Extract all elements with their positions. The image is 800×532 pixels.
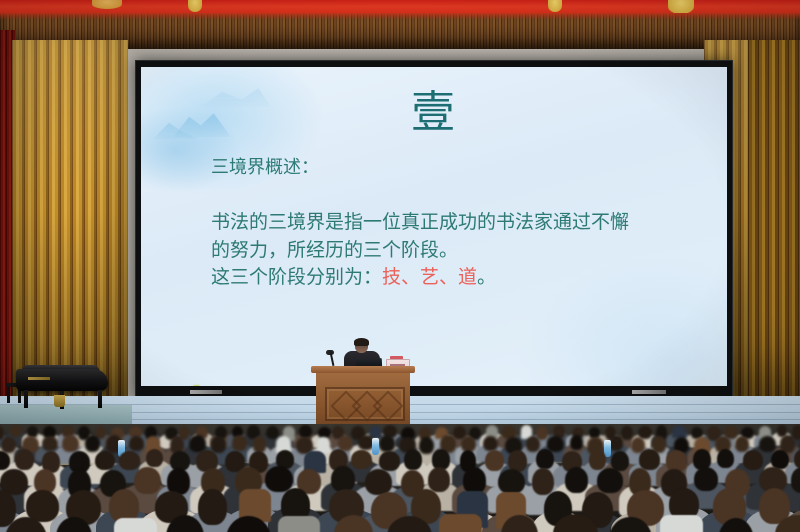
audience-member-head: [570, 435, 583, 450]
audience-member-head: [351, 450, 371, 469]
slide-paragraph: 书法的三境界是指一位真正成功的书法家通过不懈 的努力，所经历的三个阶段。 这三个…: [211, 209, 713, 292]
lecture-hall-photo: 壹 三境界概述： 书法的三境界是指一位真正成功的书法家通过不懈 的努力，所经历的…: [0, 0, 800, 532]
banner-gold-decoration-icon: [548, 0, 562, 12]
audience-member-head: [743, 450, 763, 470]
audience-member-head: [42, 436, 58, 451]
piano-leg: [24, 390, 28, 408]
audience-member-head: [95, 451, 115, 470]
audience-member-head: [331, 466, 354, 492]
audience-member-cap: [114, 518, 157, 532]
banner-gold-decoration-icon: [668, 0, 694, 14]
water-bottle: [372, 438, 379, 455]
grand-piano: [12, 365, 114, 413]
gold-curtain-far-right: [748, 40, 800, 420]
audience-member-cap: [439, 514, 482, 532]
audience-member-head: [198, 489, 226, 525]
slide-paragraph-line-1: 书法的三境界是指一位真正成功的书法家通过不懈: [211, 212, 629, 233]
audience-member-head: [463, 467, 487, 494]
curtain-left-highlight: [12, 40, 128, 420]
audience-member-head: [428, 467, 450, 493]
audience-member-cap: [660, 515, 702, 532]
audience-member-head: [717, 449, 734, 468]
banner-gold-decoration-icon: [188, 0, 202, 12]
banner-gold-decoration-icon: [92, 0, 122, 9]
audience-member-head: [85, 435, 101, 452]
projection-screen: 壹 三境界概述： 书法的三境界是指一位真正成功的书法家通过不懈 的努力，所经历的…: [135, 60, 733, 397]
audience-crowd: [0, 424, 800, 532]
slide-body: 三境界概述： 书法的三境界是指一位真正成功的书法家通过不懈 的努力，所经历的三个…: [211, 155, 713, 292]
piano-pedal-lyre: [54, 395, 65, 407]
bench-leg: [7, 387, 10, 403]
audience-member-head: [597, 468, 623, 493]
audience-member-cap: [672, 425, 686, 437]
audience-member-head: [379, 435, 395, 452]
audience-member-head: [134, 467, 161, 494]
audience-member-head: [526, 436, 540, 452]
slide-title: 壹: [141, 91, 727, 135]
slide-paragraph-line-3-suffix: 。: [477, 267, 496, 288]
audience-member-head: [119, 451, 140, 470]
audience-member-head: [129, 436, 144, 451]
audience-member-head: [498, 469, 525, 494]
audience-member-head: [621, 426, 633, 440]
piano-body: [16, 369, 108, 391]
lectern-diamond-motif-icon: [372, 390, 403, 421]
slide-paragraph-line-3-prefix: 这三个阶段分别为：: [211, 267, 382, 288]
audience-member-head: [62, 435, 78, 452]
lectern-carved-frame: [325, 387, 405, 421]
presenter-hair: [354, 338, 369, 346]
audience-member-head: [791, 467, 800, 493]
audience-member-head: [404, 449, 422, 470]
audience-member-head: [547, 436, 564, 451]
piano-leg: [98, 390, 102, 408]
audience-member-head: [694, 467, 718, 491]
audience-member-head: [735, 436, 749, 452]
slide-lead-text: 三境界概述：: [211, 155, 713, 179]
audience-member-head: [146, 449, 163, 467]
piano-brand-logo-icon: [28, 377, 50, 380]
audience-member-head: [483, 436, 498, 451]
screen-bezel-marking: [632, 390, 666, 394]
audience-member-head: [266, 426, 279, 440]
screen-bezel-marking: [190, 390, 222, 394]
lectern: [311, 366, 415, 432]
audience-member-head: [589, 449, 606, 471]
audience-member-head: [15, 449, 34, 470]
slide-accent-text: 技、艺、道: [382, 267, 477, 288]
audience-member-head: [419, 437, 433, 454]
audience-member-head: [379, 451, 400, 471]
audience-member-cap: [278, 516, 319, 532]
audience-member-head: [211, 436, 226, 453]
audience-member-head: [10, 425, 22, 437]
audience-member-head: [759, 436, 776, 452]
lectern-top-surface: [311, 366, 415, 373]
audience-member-head: [565, 467, 588, 493]
audience-member-head: [536, 449, 553, 469]
audience-member-head: [532, 468, 554, 495]
audience-member-head: [485, 450, 504, 471]
audience-member-head: [639, 449, 660, 470]
audience-member-head: [232, 435, 247, 451]
laser-pointer-dot-icon: [193, 385, 200, 386]
presentation-slide: 壹 三境界概述： 书法的三境界是指一位真正成功的书法家通过不懈 的努力，所经历的…: [141, 67, 727, 386]
slide-paragraph-line-2: 的努力，所经历的三个阶段。: [211, 240, 458, 261]
